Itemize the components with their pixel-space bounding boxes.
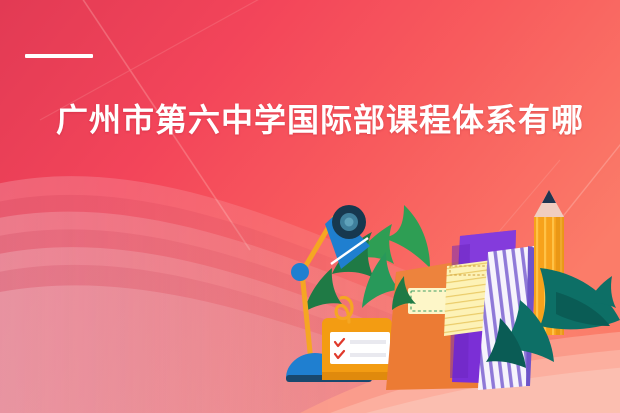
banner-image: 广州市第六中学国际部课程体系有哪 bbox=[0, 0, 620, 413]
pencil-tip bbox=[542, 190, 556, 203]
checklist-card bbox=[330, 332, 390, 364]
lamp-head-core bbox=[345, 218, 354, 227]
clipboard bbox=[322, 297, 392, 380]
checklist-line bbox=[350, 340, 386, 344]
school-supplies-illustration bbox=[0, 0, 620, 413]
clipboard-base-shadow bbox=[322, 372, 392, 380]
checklist-line bbox=[350, 353, 386, 357]
lamp-joint bbox=[291, 263, 309, 281]
